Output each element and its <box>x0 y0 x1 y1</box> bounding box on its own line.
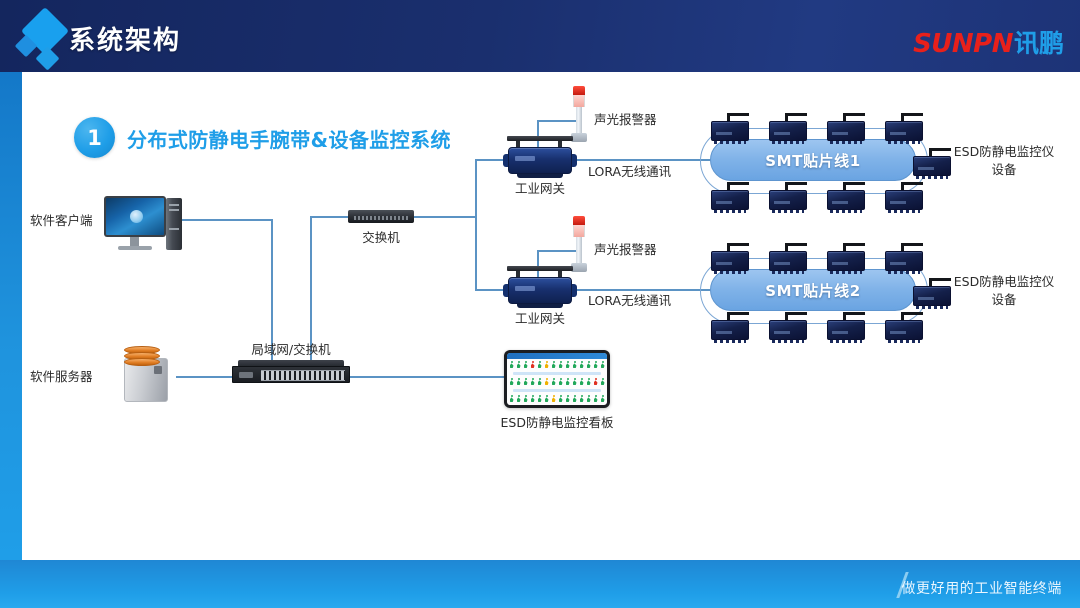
dashboard-station-icon <box>592 378 599 386</box>
esd-device <box>711 182 749 214</box>
section-title: 分布式防静电手腕带&设备监控系统 <box>127 124 451 153</box>
dashboard-station-icon <box>508 378 515 386</box>
wire-switch-riser <box>310 216 312 360</box>
dashboard-station-icon <box>536 395 543 403</box>
dashboard-station-icon <box>599 361 606 369</box>
dashboard-station-icon <box>557 395 564 403</box>
label-gateway-1: 工业网关 <box>490 180 590 198</box>
dashboard-station-icon <box>543 378 550 386</box>
page-title: 系统架构 <box>69 20 181 57</box>
dashboard-station-icon <box>557 361 564 369</box>
industrial-gateway-icon-2 <box>503 266 577 312</box>
esd-device <box>769 312 807 344</box>
dashboard-station-icon <box>592 395 599 403</box>
dashboard-station-icon <box>508 395 515 403</box>
wire-switch-to-dashboard <box>350 376 504 378</box>
dashboard-status-grid <box>507 359 607 405</box>
database-icon <box>124 346 160 368</box>
pc-tower-icon <box>166 198 182 250</box>
esd-device <box>711 243 749 275</box>
slide-canvas: 系统架构 SUNPN 讯鹏 做更好用的工业智能终端 1 分布式防静电手腕带&设备… <box>0 0 1080 608</box>
dashboard-station-icon <box>599 395 606 403</box>
label-esd-line2: 设备 <box>991 292 1016 307</box>
wire-branch-to-gateway-2 <box>475 289 505 291</box>
dashboard-row <box>507 393 607 405</box>
dashboard-station-icon <box>543 395 550 403</box>
dashboard-station-icon <box>585 378 592 386</box>
dashboard-station-icon <box>515 361 522 369</box>
esd-device <box>827 243 865 275</box>
dashboard-station-icon <box>515 378 522 386</box>
dashboard-row <box>507 359 607 371</box>
footer-tagline: 做更好用的工业智能终端 <box>901 578 1062 598</box>
monitor-base <box>118 246 152 250</box>
wire-branch-to-gateway-1 <box>475 159 505 161</box>
dashboard-station-icon <box>522 361 529 369</box>
dashboard-station-icon <box>585 395 592 403</box>
dashboard-station-icon <box>592 361 599 369</box>
dashboard-station-icon <box>515 395 522 403</box>
dashboard-station-icon <box>564 395 571 403</box>
dashboard-station-icon <box>571 361 578 369</box>
dashboard-row-divider <box>513 389 601 392</box>
label-software-server: 软件服务器 <box>30 368 93 386</box>
label-lora-2: LORA无线通讯 <box>588 292 671 310</box>
label-esd-line2: 设备 <box>991 162 1016 177</box>
esd-device <box>885 182 923 214</box>
section-number-badge: 1 <box>74 117 115 158</box>
dashboard-station-icon <box>522 395 529 403</box>
dashboard-screen <box>507 353 607 405</box>
esd-device <box>769 182 807 214</box>
dashboard-station-icon <box>564 361 571 369</box>
wire-small-switch-to-branch <box>414 216 476 218</box>
slide-header: 系统架构 SUNPN 讯鹏 <box>0 0 1080 72</box>
label-esd-line1: ESD防静电监控仪 <box>954 144 1054 159</box>
dashboard-station-icon <box>578 361 585 369</box>
software-client-computer <box>104 196 182 258</box>
dashboard-station-icon <box>529 378 536 386</box>
label-esd-devices-2: ESD防静电监控仪 设备 <box>936 273 1072 309</box>
dashboard-station-icon <box>550 378 557 386</box>
industrial-gateway-icon-1 <box>503 136 577 182</box>
dashboard-station-icon <box>571 378 578 386</box>
label-gateway-2: 工业网关 <box>490 310 590 328</box>
dashboard-station-icon <box>508 361 515 369</box>
label-lora-1: LORA无线通讯 <box>588 163 671 181</box>
dashboard-station-icon <box>571 395 578 403</box>
dashboard-station-icon <box>536 378 543 386</box>
wire-gateway-branch-vertical <box>475 159 477 290</box>
dashboard-station-icon <box>536 361 543 369</box>
esd-device <box>711 113 749 145</box>
esd-device <box>885 243 923 275</box>
wire-client-to-trunk <box>182 219 272 221</box>
dashboard-station-icon <box>522 378 529 386</box>
dashboard-row <box>507 376 607 388</box>
dashboard-station-icon <box>564 378 571 386</box>
brand-name-en: SUNPN <box>913 29 1013 59</box>
software-server-node <box>110 346 176 402</box>
esd-device <box>827 113 865 145</box>
lan-switch-icon <box>232 360 350 386</box>
esd-device <box>827 182 865 214</box>
smt-line-label-2: SMT贴片线2 <box>765 280 861 301</box>
smt-line-capsule-1: SMT贴片线1 <box>710 139 916 181</box>
label-switch-small: 交换机 <box>341 229 421 247</box>
dashboard-station-icon <box>599 378 606 386</box>
esd-device <box>711 312 749 344</box>
wire-server-to-switch <box>176 376 236 378</box>
monitor-neck <box>130 237 139 246</box>
esd-device <box>769 113 807 145</box>
dashboard-station-icon <box>550 395 557 403</box>
monitor-icon <box>104 196 166 237</box>
switch-ports <box>261 370 345 381</box>
esd-device <box>885 113 923 145</box>
alarm-tower-icon-2 <box>571 216 587 272</box>
label-software-client: 软件客户端 <box>30 212 93 230</box>
smt-line-label-1: SMT贴片线1 <box>765 150 861 171</box>
esd-device <box>827 312 865 344</box>
label-esd-line1: ESD防静电监控仪 <box>954 274 1054 289</box>
dashboard-station-icon <box>578 378 585 386</box>
label-dashboard: ESD防静电监控看板 <box>487 414 627 432</box>
label-alarm-1: 声光报警器 <box>594 111 657 129</box>
dashboard-station-icon <box>578 395 585 403</box>
wire-riser-to-small-switch <box>310 216 350 218</box>
label-switch-lan: 局域网/交换机 <box>231 341 351 359</box>
dashboard-station-icon <box>557 378 564 386</box>
left-accent-bar <box>0 72 22 560</box>
esd-dashboard-tablet[interactable] <box>504 350 610 408</box>
smt-line-capsule-2: SMT贴片线2 <box>710 269 916 311</box>
label-alarm-2: 声光报警器 <box>594 241 657 259</box>
dashboard-station-icon <box>529 395 536 403</box>
esd-device <box>769 243 807 275</box>
label-esd-devices-1: ESD防静电监控仪 设备 <box>936 143 1072 179</box>
dashboard-station-icon <box>529 361 536 369</box>
brand-logo: SUNPN 讯鹏 <box>913 24 1064 60</box>
network-switch-small-icon <box>348 210 414 223</box>
alarm-tower-icon-1 <box>571 86 587 142</box>
brand-name-cn: 讯鹏 <box>1014 24 1064 60</box>
dashboard-row-divider <box>513 372 601 375</box>
dashboard-station-icon <box>585 361 592 369</box>
esd-device <box>885 312 923 344</box>
dashboard-station-icon <box>543 361 550 369</box>
dashboard-station-icon <box>550 361 557 369</box>
